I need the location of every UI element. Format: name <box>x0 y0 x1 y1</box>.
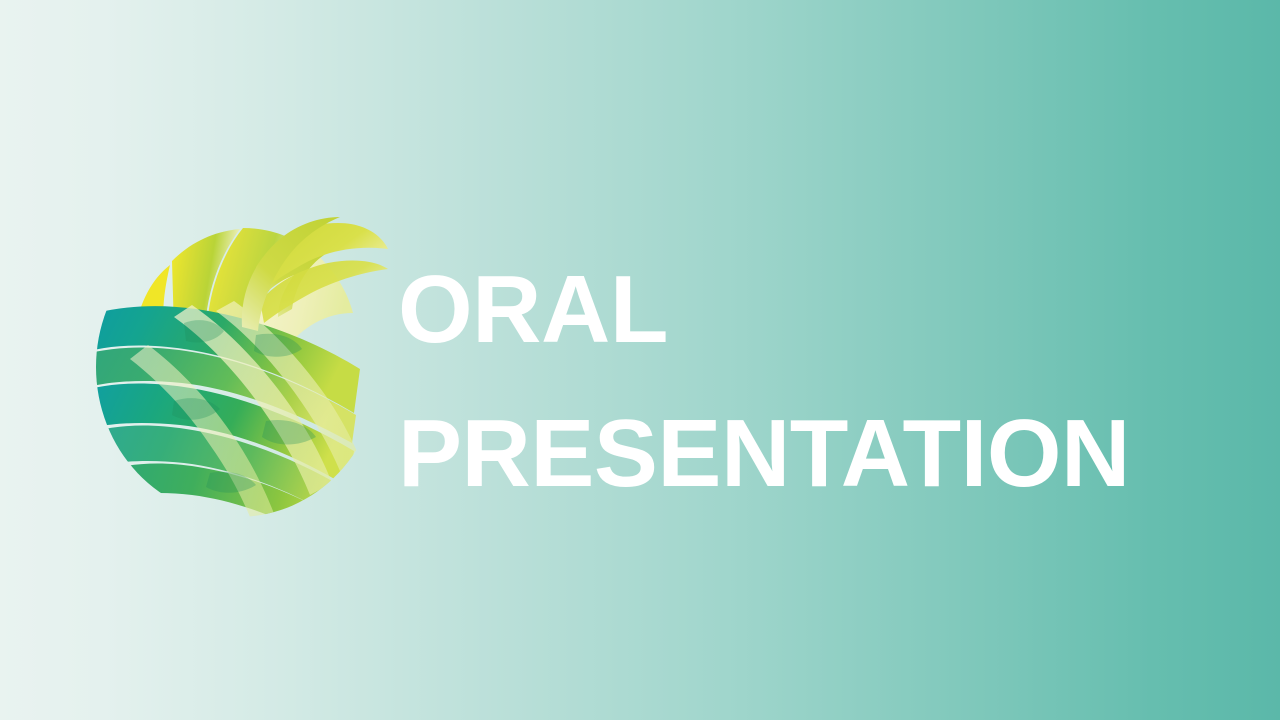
presentation-slide: ORAL PRESENTATION <box>0 0 1280 720</box>
globe-ribbon-leaf-logo <box>88 205 388 517</box>
slide-title: ORAL PRESENTATION <box>398 238 1218 526</box>
title-line-one: ORAL <box>398 238 1218 382</box>
title-line-two: PRESENTATION <box>398 382 1218 526</box>
